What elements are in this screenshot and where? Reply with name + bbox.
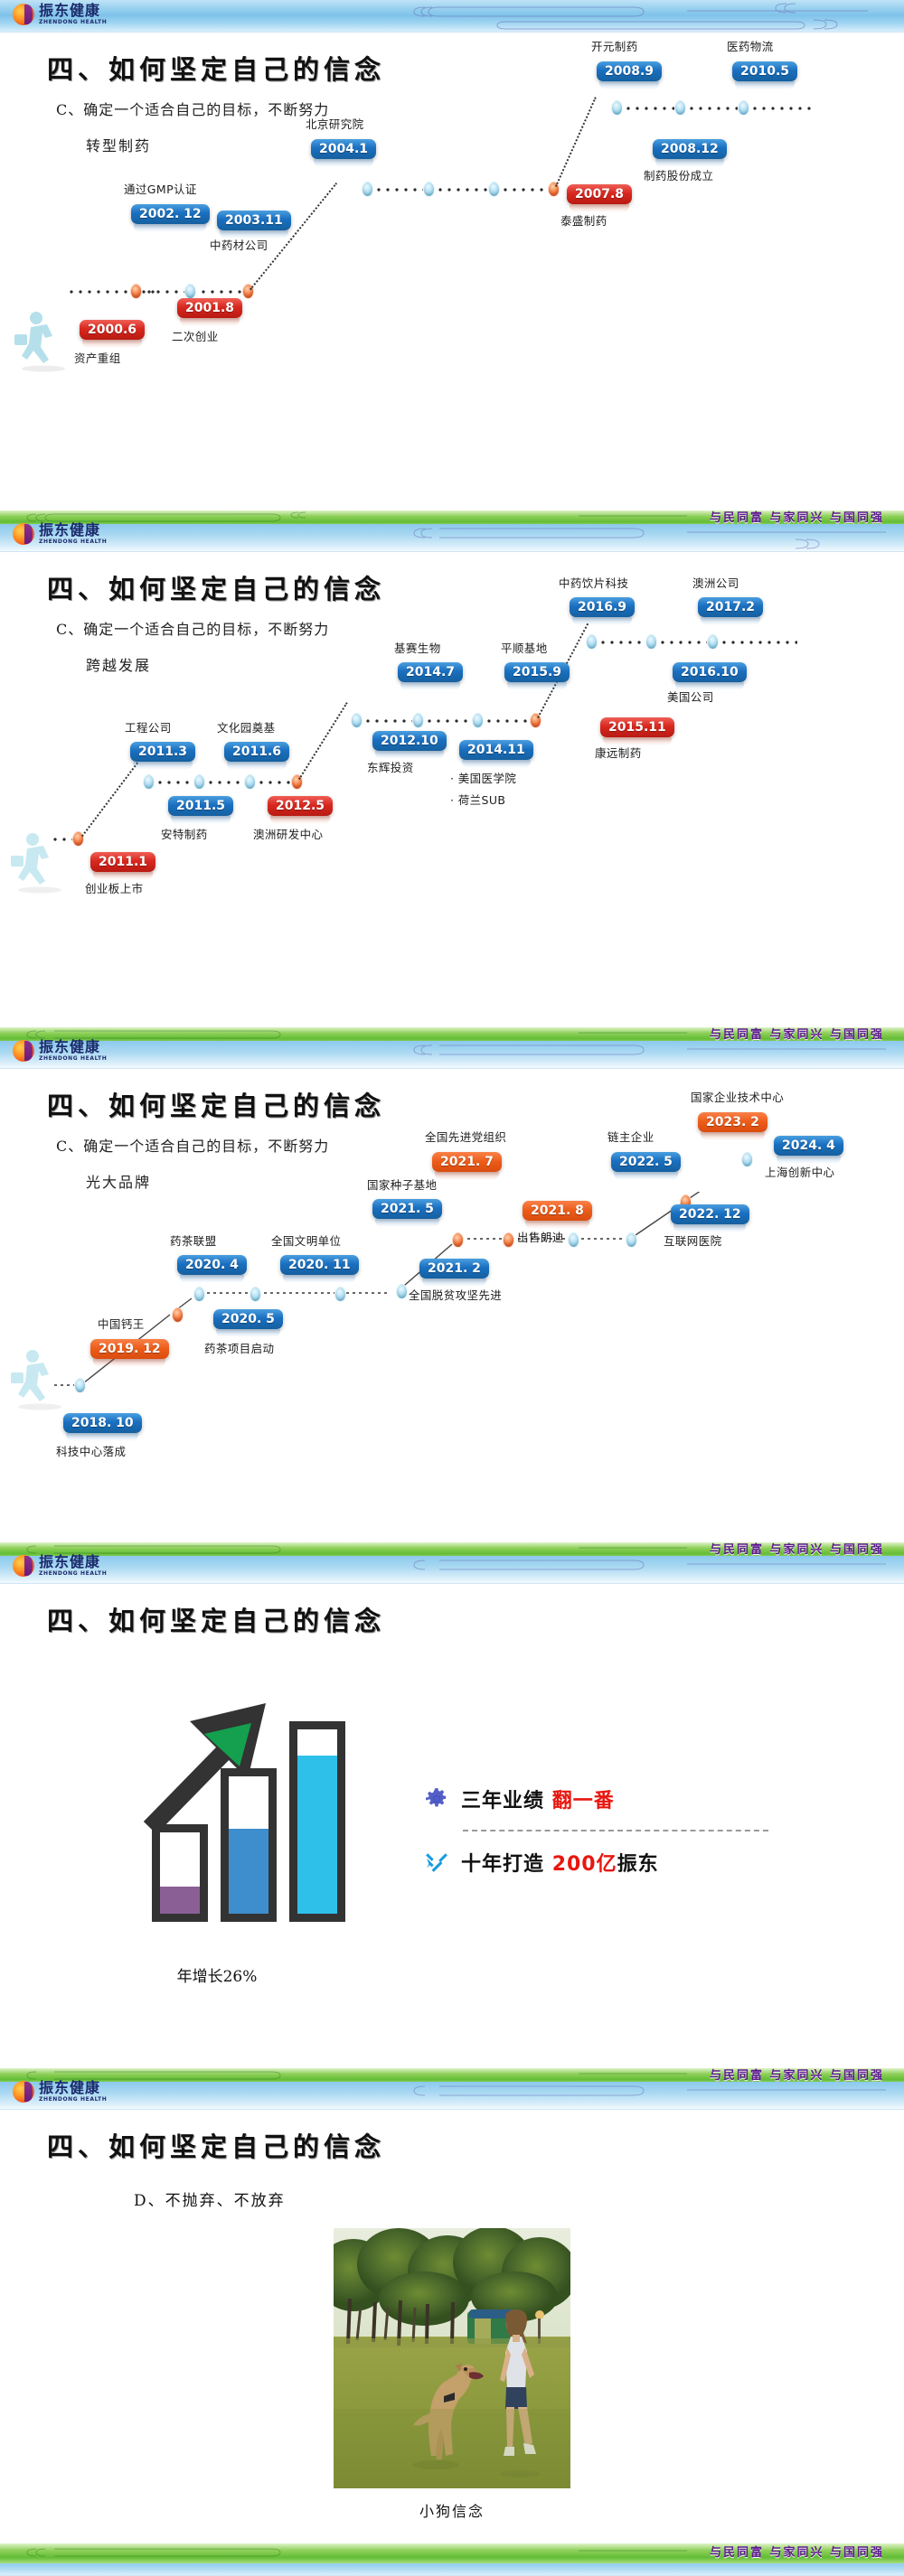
timeline-node-2010-5 bbox=[738, 100, 749, 116]
timeline2-line-g bbox=[598, 641, 645, 644]
timeline2-node-2012-10 bbox=[351, 713, 363, 728]
slide-2-timeline: 2011.1 创业板上市 2011.3 工程公司 2011.5 安特制药 201… bbox=[0, 675, 904, 946]
claims-divider bbox=[463, 1830, 768, 1831]
chip-2011-1[interactable]: 2011.1 bbox=[90, 852, 155, 872]
chip-2002-12[interactable]: 2002. 12 bbox=[131, 204, 210, 224]
timeline-line-f bbox=[624, 107, 674, 110]
chip-2024-4[interactable]: 2024. 4 bbox=[774, 1136, 843, 1156]
timeline-node-2003-11 bbox=[423, 182, 435, 197]
logo-english-text-5: ZHENDONG HEALTH bbox=[39, 2097, 107, 2103]
timeline-line-g bbox=[687, 107, 738, 110]
banner-decoration bbox=[0, 0, 904, 33]
timeline2-line-h bbox=[658, 641, 707, 644]
bar-2 bbox=[221, 1768, 277, 1922]
timeline-line-h bbox=[750, 107, 814, 110]
label-2022-5: 链主企业 bbox=[607, 1128, 654, 1145]
growth-caption: 年增长26% bbox=[118, 1963, 316, 1986]
chip-2018-10[interactable]: 2018. 10 bbox=[63, 1413, 142, 1433]
chip-2022-5[interactable]: 2022. 5 bbox=[611, 1152, 681, 1172]
chip-2014-7[interactable]: 2014.7 bbox=[398, 662, 463, 682]
logo-english-text-4: ZHENDONG HEALTH bbox=[39, 1571, 107, 1577]
timeline2-line-e bbox=[425, 719, 472, 723]
bar-chart bbox=[152, 1714, 387, 1922]
dog-photo-illustration bbox=[334, 2228, 570, 2488]
photo-caption: 小狗信念 bbox=[0, 2488, 904, 2521]
chip-2020-5[interactable]: 2020. 5 bbox=[213, 1309, 283, 1329]
label-2008-12: 制药股份成立 bbox=[644, 166, 713, 183]
label-2018-10: 科技中心落成 bbox=[56, 1442, 126, 1459]
timeline3-node-2021-2 bbox=[396, 1284, 408, 1299]
logo-chinese-text: 振东健康 bbox=[39, 4, 107, 18]
claim-2-label: 十年打造 bbox=[461, 1853, 544, 1876]
label-2016-10: 美国公司 bbox=[667, 688, 714, 705]
timeline2-node-2017-2 bbox=[707, 634, 719, 650]
logo-chinese-text-3: 振东健康 bbox=[39, 1040, 107, 1054]
timeline2-node-2011-3 bbox=[143, 774, 155, 790]
timeline2-node-2016-9 bbox=[586, 634, 598, 650]
timeline2-line-c bbox=[257, 781, 293, 784]
logo-chinese-text-5: 振东健康 bbox=[39, 2081, 107, 2095]
chip-2008-9[interactable]: 2008.9 bbox=[597, 61, 662, 81]
slide-4-title: 四、如何坚定自己的信念 bbox=[0, 1584, 904, 1638]
slide-1-subheading: C、确定一个适合自己的目标，不断努力 bbox=[0, 87, 904, 119]
bottom-banner: 与民同富 与家同兴 与国同强 bbox=[0, 2543, 904, 2576]
chip-2022-12[interactable]: 2022. 12 bbox=[671, 1204, 749, 1224]
timeline-line-lower bbox=[67, 290, 157, 294]
slide-1: 振东健康 ZHENDONG HEALTH 四、如何坚定自己的信念 C、确定一个适… bbox=[0, 0, 904, 511]
timeline2-node-2016-10 bbox=[645, 634, 657, 650]
bar-3 bbox=[289, 1721, 345, 1922]
logo-mark-icon-2 bbox=[13, 523, 34, 545]
chip-2015-9[interactable]: 2015.9 bbox=[504, 662, 570, 682]
growth-section: 年增长26% 三年业绩 翻一番 bbox=[0, 1676, 904, 2001]
chip-2017-2[interactable]: 2017.2 bbox=[698, 597, 763, 617]
timeline3-node-2019-12 bbox=[172, 1307, 184, 1323]
chip-2019-12[interactable]: 2019. 12 bbox=[90, 1339, 169, 1359]
label-2016-9: 中药饮片科技 bbox=[559, 574, 628, 591]
claims-list: 三年业绩 翻一番 十年打造 200亿振东 bbox=[425, 1775, 805, 1886]
label-2024-4: 上海创新中心 bbox=[765, 1163, 834, 1180]
brand-logo-5: 振东健康 ZHENDONG HEALTH bbox=[13, 2081, 107, 2103]
timeline3-node-2021-5 bbox=[452, 1232, 464, 1248]
timeline2-riser-2 bbox=[298, 702, 348, 780]
label-2011-3: 工程公司 bbox=[125, 718, 172, 735]
chip-2021-2[interactable]: 2021. 2 bbox=[419, 1259, 489, 1279]
claim-1-highlight: 翻一番 bbox=[552, 1790, 615, 1813]
top-banner-slide-5: 与民同富 与家同兴 与国同强 振东健康 ZHENDONG HEALTH bbox=[0, 2068, 904, 2110]
timeline3-node-2021-7 bbox=[503, 1232, 514, 1248]
blue-banner-strip-3 bbox=[0, 1041, 904, 1068]
blue-banner-strip-5 bbox=[0, 2082, 904, 2109]
gear-icon bbox=[425, 1787, 448, 1811]
slide-2-subheading: C、确定一个适合自己的目标，不断努力 bbox=[0, 606, 904, 639]
label-2012-10: 东辉投资 bbox=[367, 758, 414, 775]
timeline2-node-2011-5 bbox=[193, 774, 205, 790]
slide-1-timeline: 2000.6 资产重组 2001.8 二次创业 2002. 12 通过GMP认证… bbox=[0, 155, 904, 426]
bar-2-fill bbox=[229, 1829, 268, 1914]
chip-2014-11[interactable]: 2014.11 bbox=[459, 740, 533, 760]
chip-2003-11[interactable]: 2003.11 bbox=[217, 211, 291, 230]
label-2002-12: 通过GMP认证 bbox=[124, 180, 197, 197]
timeline-node-2002-12-end bbox=[362, 182, 373, 197]
dog-photo bbox=[334, 2228, 570, 2488]
top-banner-slide-2: 与民同富 与家同兴 与国同强 振东健康 ZHENDONG HEALTH bbox=[0, 511, 904, 552]
label-2014-7: 基赛生物 bbox=[394, 639, 441, 656]
timeline3-node-2020-5 bbox=[250, 1287, 261, 1302]
timeline2-line-i bbox=[720, 641, 797, 644]
chip-2010-5[interactable]: 2010.5 bbox=[732, 61, 797, 81]
timeline2-line-start bbox=[51, 838, 74, 841]
logo-mark-icon-5 bbox=[13, 2081, 34, 2103]
slide-1-topic: 转型制药 bbox=[0, 119, 904, 155]
slide-5-subheading: D、不抛弃、不放弃 bbox=[0, 2164, 904, 2210]
label-2022-12: 互联网医院 bbox=[664, 1232, 722, 1249]
timeline2-node-2014-7 bbox=[412, 713, 424, 728]
runner-watermark-icon bbox=[13, 309, 69, 372]
label-2003-11: 中药材公司 bbox=[210, 236, 268, 253]
label-2023-2: 国家企业技术中心 bbox=[691, 1088, 784, 1105]
label-2020-5: 药茶项目启动 bbox=[204, 1339, 274, 1356]
blue-banner-strip-4 bbox=[0, 1556, 904, 1583]
bar-3-fill bbox=[297, 1756, 337, 1914]
brand-logo: 振东健康 ZHENDONG HEALTH bbox=[13, 4, 107, 25]
label-2008-9: 开元制药 bbox=[591, 37, 638, 54]
timeline3-node-2020-11 bbox=[334, 1287, 346, 1302]
chip-2023-2[interactable]: 2023. 2 bbox=[698, 1112, 767, 1132]
timeline-line-b bbox=[199, 290, 242, 294]
label-2001-8: 二次创业 bbox=[172, 327, 219, 344]
brand-slogan-bottom: 与民同富 与家同兴 与国同强 bbox=[710, 2544, 884, 2562]
logo-english-text-2: ZHENDONG HEALTH bbox=[39, 539, 107, 545]
wrench-icon bbox=[425, 1850, 448, 1874]
timeline-line-d bbox=[436, 188, 488, 192]
label-2007-8: 泰盛制药 bbox=[560, 211, 607, 229]
timeline-node-mid-1 bbox=[184, 284, 196, 299]
bar-1-fill bbox=[160, 1887, 200, 1914]
blue-banner-strip-2 bbox=[0, 524, 904, 551]
claim-1-label: 三年业绩 bbox=[461, 1790, 544, 1813]
logo-chinese-text-4: 振东健康 bbox=[39, 1555, 107, 1569]
logo-english-text: ZHENDONG HEALTH bbox=[39, 20, 107, 25]
label-2017-2: 澳洲公司 bbox=[692, 574, 739, 591]
timeline-node-2008-9 bbox=[611, 100, 623, 116]
timeline2-line-d bbox=[363, 719, 412, 723]
top-banner-slide-1: 振东健康 ZHENDONG HEALTH bbox=[0, 0, 904, 33]
slide-5: 与民同富 与家同兴 与国同强 振东健康 ZHENDONG HEALTH 四、如何… bbox=[0, 2068, 904, 2543]
chip-2001-8[interactable]: 2001.8 bbox=[177, 298, 242, 318]
bar-1 bbox=[152, 1824, 208, 1922]
brand-logo-4: 振东健康 ZHENDONG HEALTH bbox=[13, 1555, 107, 1577]
label-2000-6: 资产重组 bbox=[74, 349, 121, 366]
top-banner-slide-3: 与民同富 与家同兴 与国同强 振东健康 ZHENDONG HEALTH bbox=[0, 1027, 904, 1069]
chip-2015-11[interactable]: 2015.11 bbox=[600, 717, 674, 737]
claim-2-highlight: 200亿 bbox=[552, 1853, 617, 1876]
claim-text-2: 十年打造 200亿振东 bbox=[461, 1848, 659, 1877]
chip-2011-5[interactable]: 2011.5 bbox=[168, 796, 233, 816]
label-2010-5: 医药物流 bbox=[727, 37, 774, 54]
chip-2021-7[interactable]: 2021. 7 bbox=[432, 1152, 502, 1172]
label-2004-1: 北京研究院 bbox=[306, 115, 364, 132]
timeline-line-c bbox=[374, 188, 423, 192]
label-2011-1: 创业板上市 bbox=[85, 879, 144, 896]
label-2020-11: 全国文明单位 bbox=[271, 1232, 341, 1249]
slide-2: 与民同富 与家同兴 与国同强 振东健康 ZHENDONG HEALTH bbox=[0, 511, 904, 1027]
timeline2-node-2011-6 bbox=[244, 774, 256, 790]
brand-logo-3: 振东健康 ZHENDONG HEALTH bbox=[13, 1040, 107, 1062]
chip-2008-12[interactable]: 2008.12 bbox=[653, 139, 727, 159]
label-2021-5: 国家种子基地 bbox=[367, 1176, 437, 1193]
chip-2007-8[interactable]: 2007.8 bbox=[567, 184, 632, 204]
chip-2016-10[interactable]: 2016.10 bbox=[673, 662, 747, 682]
timeline3-node-2023-2 bbox=[741, 1152, 753, 1167]
top-banner-slide-4: 与民同富 与家同兴 与国同强 振东健康 ZHENDONG HEALTH bbox=[0, 1542, 904, 1584]
claim-row-1: 三年业绩 翻一番 bbox=[425, 1775, 805, 1822]
timeline2-line-f bbox=[485, 719, 532, 723]
chip-2020-4[interactable]: 2020. 4 bbox=[177, 1255, 247, 1275]
label-2011-5: 安特制药 bbox=[161, 825, 208, 842]
label-2014-11-b: · 荷兰SUB bbox=[450, 791, 505, 808]
chip-2012-5[interactable]: 2012.5 bbox=[268, 796, 333, 816]
slide-3: 与民同富 与家同兴 与国同强 振东健康 ZHENDONG HEALTH 四、如何… bbox=[0, 1027, 904, 1542]
label-2021-7: 全国先进党组织 bbox=[425, 1128, 506, 1145]
logo-mark-icon-4 bbox=[13, 1555, 34, 1577]
label-2011-6: 文化园奠基 bbox=[217, 718, 276, 735]
slide-5-title: 四、如何坚定自己的信念 bbox=[0, 2110, 904, 2164]
timeline3-node-2022-5 bbox=[626, 1232, 637, 1248]
label-2012-5: 澳洲研发中心 bbox=[253, 825, 323, 842]
label-2015-9: 平顺基地 bbox=[501, 639, 548, 656]
timeline3-node-2020-4 bbox=[193, 1287, 205, 1302]
logo-mark-icon-3 bbox=[13, 1040, 34, 1062]
chip-2021-8[interactable]: 2021. 8 bbox=[523, 1201, 592, 1221]
chip-2016-9[interactable]: 2016.9 bbox=[570, 597, 635, 617]
label-2021-8: 出售朗迪 bbox=[517, 1228, 564, 1245]
logo-mark-icon bbox=[13, 4, 34, 25]
timeline3-node-2021-8 bbox=[568, 1232, 579, 1248]
chip-2020-11[interactable]: 2020. 11 bbox=[280, 1255, 359, 1275]
chip-2004-1[interactable]: 2004.1 bbox=[311, 139, 376, 159]
timeline-node-2000-6 bbox=[130, 284, 142, 299]
slide-4: 与民同富 与家同兴 与国同强 振东健康 ZHENDONG HEALTH 四、如何… bbox=[0, 1542, 904, 2068]
logo-chinese-text-2: 振东健康 bbox=[39, 523, 107, 538]
timeline-node-2008-12 bbox=[674, 100, 686, 116]
chip-2000-6[interactable]: 2000.6 bbox=[80, 320, 145, 340]
chip-2012-10[interactable]: 2012.10 bbox=[372, 731, 447, 751]
timeline-line-a bbox=[145, 290, 186, 294]
label-2014-11-a: · 美国医学院 bbox=[450, 769, 516, 786]
chip-2021-5[interactable]: 2021. 5 bbox=[372, 1199, 442, 1219]
label-2019-12: 中国钙王 bbox=[98, 1315, 145, 1332]
claim-text-1: 三年业绩 翻一番 bbox=[461, 1784, 615, 1813]
slide-2-title: 四、如何坚定自己的信念 bbox=[0, 552, 904, 606]
label-2021-2: 全国脱贫攻坚先进 bbox=[409, 1286, 502, 1303]
chip-2011-6[interactable]: 2011.6 bbox=[224, 742, 289, 762]
label-2020-4: 药茶联盟 bbox=[170, 1232, 217, 1249]
brand-logo-2: 振东健康 ZHENDONG HEALTH bbox=[13, 523, 107, 545]
claim-row-2: 十年打造 200亿振东 bbox=[425, 1839, 805, 1886]
timeline2-node-2014-11 bbox=[472, 713, 484, 728]
slide-3-timeline: 2018. 10 科技中心落成 2019. 12 中国钙王 2020. 4 药茶… bbox=[0, 1192, 904, 1463]
logo-english-text-3: ZHENDONG HEALTH bbox=[39, 1056, 107, 1062]
timeline3-node-2018-10 bbox=[74, 1378, 86, 1393]
timeline2-line-a bbox=[155, 781, 195, 784]
timeline2-line-b bbox=[206, 781, 246, 784]
label-2015-11: 康远制药 bbox=[595, 744, 642, 761]
claim-2-suffix: 振东 bbox=[617, 1853, 659, 1876]
chip-2011-3[interactable]: 2011.3 bbox=[130, 742, 195, 762]
timeline-node-2004-1 bbox=[488, 182, 500, 197]
